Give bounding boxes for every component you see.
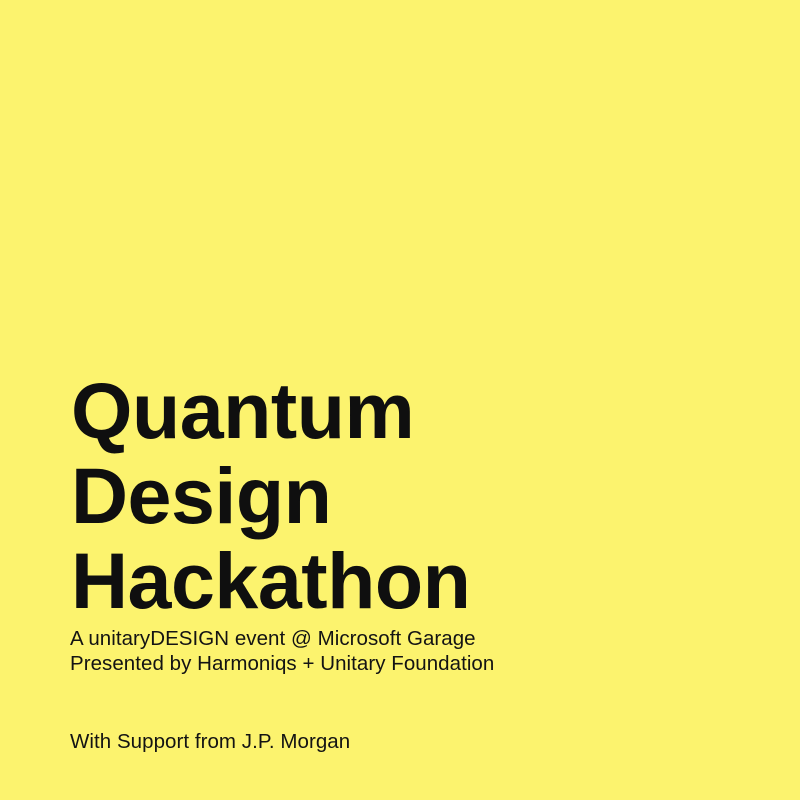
subtitle-line-presenters: Presented by Harmoniqs + Unitary Foundat… [70,651,750,676]
poster-support: With Support from J.P. Morgan [70,729,750,754]
subtitle-line-event: A unitaryDESIGN event @ Microsoft Garage [70,626,750,651]
support-line-sponsor: With Support from J.P. Morgan [70,729,750,754]
poster-subtitle: A unitaryDESIGN event @ Microsoft Garage… [70,626,750,676]
poster-canvas: Quantum Design Hackathon A unitaryDESIGN… [0,0,800,800]
poster-headline: Quantum Design Hackathon [71,368,731,623]
headline-line-2: Design [71,453,731,538]
headline-line-1: Quantum [71,368,731,453]
headline-line-3: Hackathon [71,538,731,623]
